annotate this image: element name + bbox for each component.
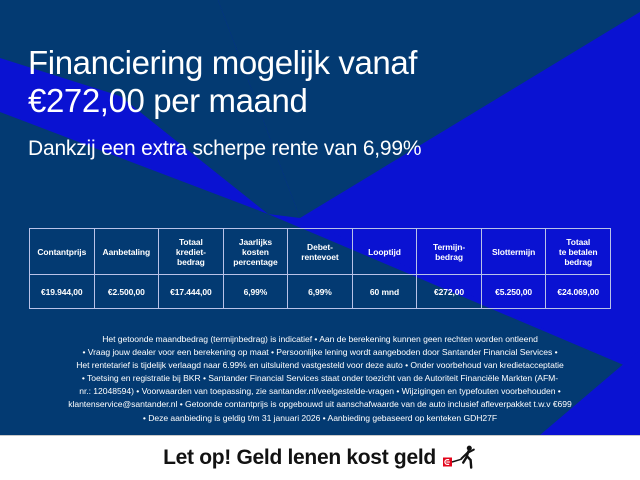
table-header-row: Contantprijs Aanbetaling Totaal krediet- xyxy=(30,229,611,275)
table-header-contantprijs: Contantprijs xyxy=(30,229,95,275)
headline-line-2: €272,00 per maand xyxy=(28,82,588,120)
afm-warning-text: Let op! Geld lenen kost geld xyxy=(163,446,436,470)
table-header-termijnbedrag: Termijn- bedrag xyxy=(417,229,482,275)
headline-line-1: Financiering mogelijk vanaf xyxy=(28,44,417,81)
finance-table: Contantprijs Aanbetaling Totaal krediet- xyxy=(29,228,611,309)
fineprint-disclaimer: Het getoonde maandbedrag (termijnbedrag)… xyxy=(22,333,618,425)
headline: Financiering mogelijk vanaf €272,00 per … xyxy=(28,44,588,120)
table-cell-debetrentevoet: 6,99% xyxy=(288,275,353,309)
table-row: €19.944,00 €2.500,00 €17.444,00 6,99% 6,… xyxy=(30,275,611,309)
table-cell-aanbetaling: €2.500,00 xyxy=(94,275,159,309)
table-header-totaal-kredietbedrag: Totaal krediet- bedrag xyxy=(159,229,224,275)
fineprint-line: klantenservice@santander.nl • Getoonde c… xyxy=(22,398,618,411)
afm-warning-bar: Let op! Geld lenen kost geld xyxy=(0,435,640,480)
fineprint-line: Het rentetarief is tijdelijk verlaagd na… xyxy=(22,359,618,372)
financing-banner: Financiering mogelijk vanaf €272,00 per … xyxy=(0,0,640,480)
table-header-looptijd: Looptijd xyxy=(352,229,417,275)
fineprint-line: • Vraag jouw dealer voor een berekening … xyxy=(22,346,618,359)
table-cell-jaarlijks-kosten-percentage: 6,99% xyxy=(223,275,288,309)
table-header-jaarlijks-kosten-percentage: Jaarlijks kosten percentage xyxy=(223,229,288,275)
table-header-slottermijn: Slottermijn xyxy=(481,229,546,275)
fineprint-line: Het getoonde maandbedrag (termijnbedrag)… xyxy=(22,333,618,346)
subheadline: Dankzij een extra scherpe rente van 6,99… xyxy=(28,136,608,162)
table-cell-slottermijn: €5.250,00 xyxy=(481,275,546,309)
table-cell-looptijd: 60 mnd xyxy=(352,275,417,309)
table-cell-totaal-te-betalen-bedrag: €24.069,00 xyxy=(546,275,611,309)
afm-running-man-with-money-block-icon xyxy=(443,445,477,476)
fineprint-line: • Toetsing en registratie bij BKR • Sant… xyxy=(22,372,618,385)
table-cell-totaal-kredietbedrag: €17.444,00 xyxy=(159,275,224,309)
fineprint-line: • Deze aanbieding is geldig t/m 31 janua… xyxy=(22,412,618,425)
table-header-aanbetaling: Aanbetaling xyxy=(94,229,159,275)
finance-table-wrapper: Contantprijs Aanbetaling Totaal krediet- xyxy=(29,228,611,309)
table-cell-contantprijs: €19.944,00 xyxy=(30,275,95,309)
fineprint-line: nr.: 12048594) • Voorwaarden van toepass… xyxy=(22,385,618,398)
table-header-debetrentevoet: Debet- rentevoet xyxy=(288,229,353,275)
table-cell-termijnbedrag: €272,00 xyxy=(417,275,482,309)
table-header-totaal-te-betalen-bedrag: Totaal te betalen bedrag xyxy=(546,229,611,275)
